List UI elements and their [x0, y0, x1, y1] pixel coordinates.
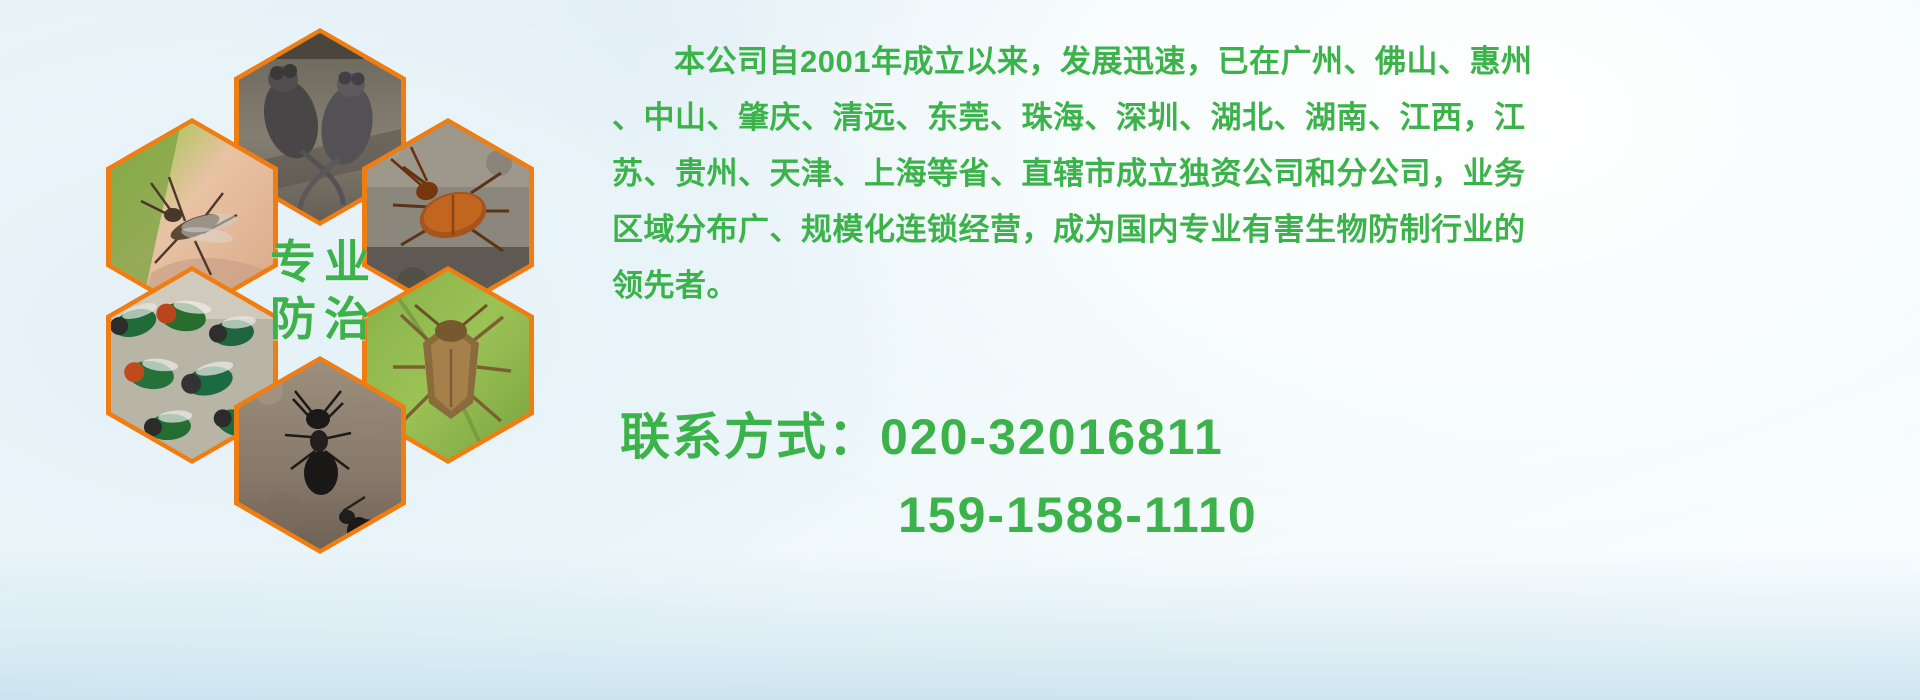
contact-phone-mobile[interactable]: 159-1588-1110: [620, 476, 1910, 554]
contact-phone-landline[interactable]: 联系方式：020-32016811: [620, 398, 1910, 476]
description-line: 本公司自2001年成立以来，发展迅速，已在广州、佛山、惠州: [612, 34, 1902, 90]
description-line: 领先者。: [612, 258, 1902, 314]
contact-block: 联系方式：020-32016811 159-1588-1110: [620, 398, 1910, 554]
description-line: 、中山、肇庆、清远、东莞、珠海、深圳、湖北、湖南、江西，江: [612, 90, 1902, 146]
badge-line-1: 专业: [262, 234, 378, 292]
description-line: 苏、贵州、天津、上海等省、直辖市成立独资公司和分公司，业务: [612, 146, 1902, 202]
company-description: 本公司自2001年成立以来，发展迅速，已在广州、佛山、惠州 、中山、肇庆、清远、…: [612, 34, 1902, 314]
promo-banner: 专业 防治 本公司自2001年成立以来，发展迅速，已在广州、佛山、惠州 、中山、…: [0, 0, 1920, 700]
hexagon-photo-cluster: 专业 防治: [88, 8, 588, 568]
description-line: 区域分布广、规模化连锁经营，成为国内专业有害生物防制行业的: [612, 202, 1902, 258]
badge-line-2: 防治: [262, 291, 378, 349]
